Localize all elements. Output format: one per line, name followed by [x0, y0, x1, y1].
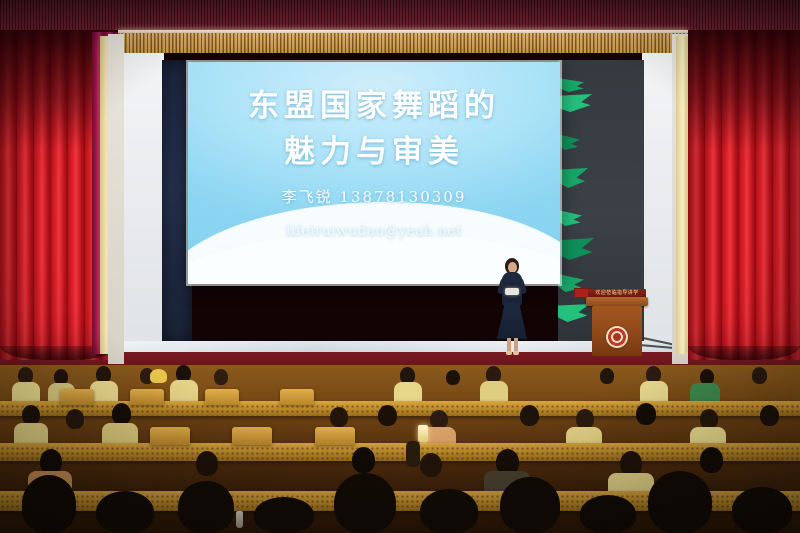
- audience-member: [480, 381, 508, 403]
- audience-member: [378, 405, 397, 426]
- slide-title-line1: 东盟国家舞蹈的: [188, 84, 560, 128]
- leaf-icon: [558, 94, 592, 112]
- audience-area: [0, 365, 800, 533]
- audience-member: [12, 382, 40, 402]
- seat-back: [205, 389, 239, 405]
- seat-back: [315, 427, 355, 445]
- presenter-leg: [507, 338, 511, 352]
- wood-slat-valance: [118, 33, 688, 53]
- foreground-audience-head: [732, 487, 792, 533]
- slide-email: lifeiruiwudao@yeah.net: [188, 223, 560, 239]
- slide-content: 东盟国家舞蹈的 魅力与审美 李飞锐 13878130309 lifeiruiwu…: [188, 84, 560, 239]
- foreground-audience-head: [96, 491, 154, 533]
- audience-member: [640, 381, 668, 403]
- foreground-audience-head: [254, 497, 314, 533]
- presenter-skirt: [497, 303, 527, 339]
- auditorium-scene: 东盟国家舞蹈的 魅力与审美 李飞锐 13878130309 lifeiruiwu…: [0, 0, 800, 533]
- audience-member: [700, 409, 718, 429]
- audience-member: [170, 380, 198, 402]
- podium-body: [592, 306, 642, 356]
- side-wall-left: [108, 34, 124, 364]
- audience-member: [330, 407, 348, 427]
- foreground-audience-head: [580, 495, 636, 533]
- presenter-leg: [514, 338, 518, 352]
- leaf-icon: [558, 238, 594, 260]
- audience-member: [214, 369, 228, 385]
- audience-member: [576, 409, 594, 429]
- seat-back: [232, 427, 272, 445]
- audience-member: [22, 405, 40, 425]
- presenter-shoe: [513, 351, 519, 355]
- podium-top: [586, 297, 648, 306]
- audience-member: [700, 447, 723, 473]
- foreground-audience-head: [648, 471, 712, 533]
- presenter-shoe: [506, 351, 512, 355]
- foreground-audience-head: [500, 477, 560, 533]
- leaf-icon: [558, 78, 584, 92]
- podium: 欢迎莅临指导讲学: [586, 297, 648, 359]
- seat-back: [130, 389, 164, 405]
- foreground-audience-head: [334, 473, 396, 533]
- leaf-icon: [558, 210, 582, 226]
- raised-arm: [406, 441, 420, 467]
- presenter-notes: [505, 288, 519, 295]
- curtain-shadow: [688, 30, 800, 150]
- slide-title-line2: 魅力与审美: [188, 130, 560, 174]
- seat-back: [280, 389, 314, 405]
- foreground-audience-head: [178, 481, 234, 533]
- audience-member: [90, 381, 118, 403]
- projection-screen: 东盟国家舞蹈的 魅力与审美 李飞锐 13878130309 lifeiruiwu…: [188, 62, 560, 284]
- leaf-icon: [558, 134, 580, 150]
- foreground-audience-head: [420, 489, 478, 533]
- audience-member: [636, 403, 656, 425]
- seat-row: [0, 443, 800, 461]
- audience-member: [760, 405, 779, 426]
- curtain-hem: [688, 346, 800, 360]
- audience-member: [420, 453, 442, 477]
- seat-back: [150, 427, 190, 445]
- seat-back: [60, 389, 94, 405]
- audience-member: [752, 367, 767, 384]
- presenter-figure: [492, 258, 532, 358]
- audience-member: [66, 409, 84, 429]
- water-bottle: [236, 511, 243, 528]
- foreground-audience-head: [22, 475, 76, 533]
- stage-curtain-right: [688, 30, 800, 360]
- audience-member: [600, 368, 614, 384]
- slide-presenter-line: 李飞锐 13878130309: [188, 186, 560, 207]
- audience-member: [112, 403, 131, 425]
- audience-member: [196, 451, 218, 476]
- audience-member: [520, 405, 539, 426]
- leaf-icon: [558, 168, 588, 188]
- audience-member-with-cap: [150, 369, 167, 383]
- smartphone-screen: [418, 425, 428, 442]
- audience-member: [690, 383, 720, 403]
- audience-member: [352, 447, 375, 473]
- audience-member: [446, 370, 460, 385]
- school-emblem-icon: [606, 326, 628, 348]
- audience-member: [394, 382, 422, 403]
- proscenium-wall-left: [118, 53, 164, 353]
